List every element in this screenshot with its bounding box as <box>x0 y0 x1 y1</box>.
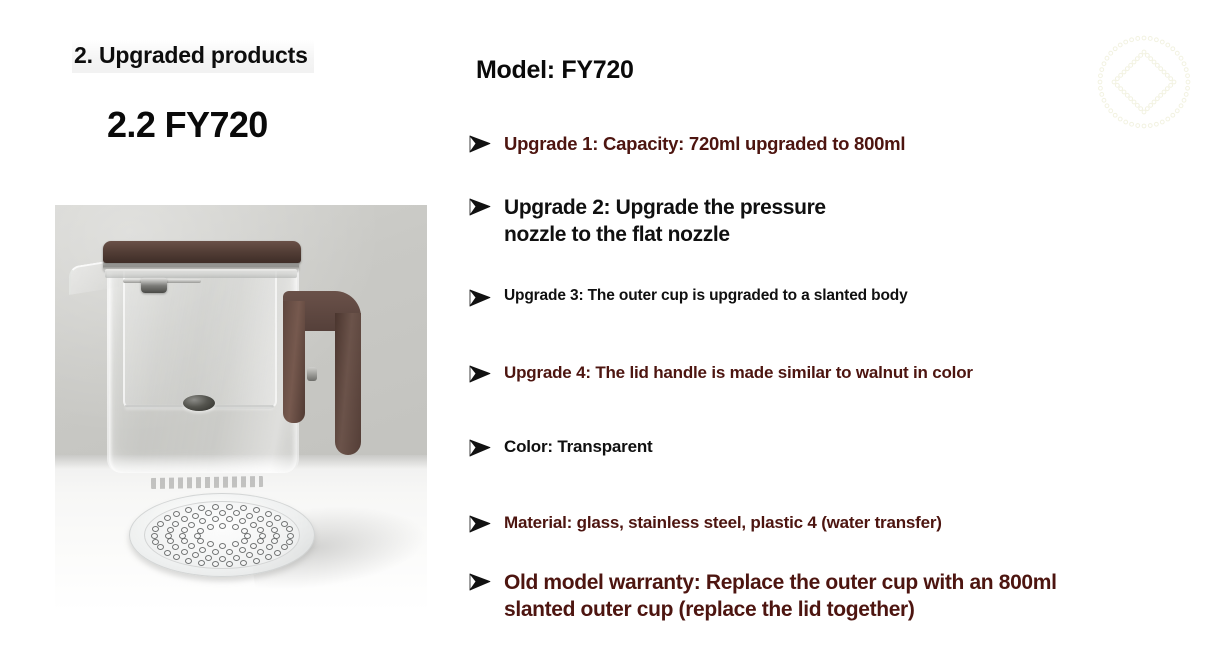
product-photo <box>55 205 427 612</box>
strainer-hole <box>257 527 264 533</box>
strainer-hole <box>219 556 226 562</box>
strainer-hole <box>207 524 214 530</box>
strainer-hole <box>164 550 171 556</box>
strainer-hole <box>287 533 294 539</box>
bullet-row-color: Color: Transparent <box>468 436 1198 463</box>
strainer-hole <box>198 505 205 511</box>
bullet-text-upgrade-1: Upgrade 1: Capacity: 720ml upgraded to 8… <box>504 132 1198 156</box>
strainer-hole <box>157 521 164 527</box>
bullet-text-upgrade-2: Upgrade 2: Upgrade the pressure nozzle t… <box>504 195 1198 249</box>
strainer-hole <box>197 528 204 534</box>
handle-button <box>307 367 317 381</box>
left-column: 2. Upgraded products 2.2 FY720 <box>0 0 450 649</box>
strainer-hole <box>219 510 226 516</box>
strainer-hole <box>219 543 226 549</box>
teapot-metal-clasp <box>141 277 167 293</box>
strainer-hole <box>179 533 186 539</box>
strainer-hole <box>250 522 257 528</box>
teapot-etched-text <box>151 476 263 489</box>
bullet-row-material: Material: glass, stainless steel, plasti… <box>468 512 1198 539</box>
bullet-text-upgrade-4: Upgrade 4: The lid handle is made simila… <box>504 362 1198 384</box>
bullet-text-upgrade-3: Upgrade 3: The outer cup is upgraded to … <box>504 286 1198 306</box>
strainer-hole <box>265 511 272 517</box>
section-heading: 2. Upgraded products <box>72 40 314 73</box>
strainer-hole <box>246 513 253 519</box>
arrowhead-bullet-icon <box>468 571 498 598</box>
strainer-hole <box>212 504 219 510</box>
strainer-hole <box>232 541 239 547</box>
strainer-hole <box>265 554 272 560</box>
strainer-hole <box>199 518 206 524</box>
strainer-hole <box>233 555 240 561</box>
bullet-row-upgrade-1: Upgrade 1: Capacity: 720ml upgraded to 8… <box>468 132 1198 159</box>
model-title: Model: FY720 <box>476 56 634 85</box>
strainer-hole <box>226 516 233 522</box>
strainer-hole <box>226 504 233 510</box>
strainer-hole <box>181 549 188 555</box>
strainer-hole <box>271 527 278 533</box>
bullet-text-material: Material: glass, stainless steel, plasti… <box>504 512 1198 534</box>
arrowhead-bullet-icon <box>468 513 498 540</box>
strainer-hole <box>152 539 159 545</box>
strainer-hole <box>192 513 199 519</box>
teapot-handle <box>283 291 361 455</box>
teapot-metal-rim-lower <box>105 269 297 278</box>
strainer-hole <box>253 558 260 564</box>
teapot-press-knob <box>183 395 215 411</box>
teapot-wooden-lid <box>103 241 301 263</box>
strainer-hole <box>257 549 264 555</box>
strainer-hole <box>241 528 248 534</box>
arrowhead-bullet-icon <box>468 133 498 160</box>
strainer-hole <box>165 533 172 539</box>
handle-inner-segment <box>283 301 305 423</box>
strainer-hole <box>188 522 195 528</box>
strainer-hole <box>185 558 192 564</box>
strainer-hole <box>219 523 226 529</box>
subsection-heading: 2.2 FY720 <box>107 104 268 146</box>
bullet-row-upgrade-3: Upgrade 3: The outer cup is upgraded to … <box>468 286 1198 313</box>
bullet-text-color: Color: Transparent <box>504 436 1198 458</box>
strainer-hole <box>241 538 248 544</box>
strainer-hole <box>207 541 214 547</box>
bullet-row-old-model-warranty: Old model warranty: Replace the outer cu… <box>468 570 1198 624</box>
arrowhead-bullet-icon <box>468 363 498 390</box>
bullet-text-old-model-warranty: Old model warranty: Replace the outer cu… <box>504 570 1198 624</box>
strainer-hole <box>239 518 246 524</box>
bullet-row-upgrade-2: Upgrade 2: Upgrade the pressure nozzle t… <box>468 195 1198 249</box>
handle-outer-segment <box>335 313 361 455</box>
arrowhead-bullet-icon <box>468 287 498 314</box>
strainer-hole <box>266 544 273 550</box>
bullet-row-upgrade-4: Upgrade 4: The lid handle is made simila… <box>468 362 1198 389</box>
right-column: Model: FY720 Upgrade 1: Capacity: 720ml … <box>460 0 1207 649</box>
strainer-hole <box>232 524 239 530</box>
strainer-hole <box>266 521 273 527</box>
strainer-hole <box>151 533 158 539</box>
strainer-disc <box>129 493 315 577</box>
strainer-hole <box>212 516 219 522</box>
strainer-hole <box>274 550 281 556</box>
strainer-hole <box>205 555 212 561</box>
arrowhead-bullet-icon <box>468 196 498 223</box>
arrowhead-bullet-icon <box>468 437 498 464</box>
strainer-hole <box>240 505 247 511</box>
strainer-hole <box>167 527 174 533</box>
strainer-hole <box>257 538 264 544</box>
